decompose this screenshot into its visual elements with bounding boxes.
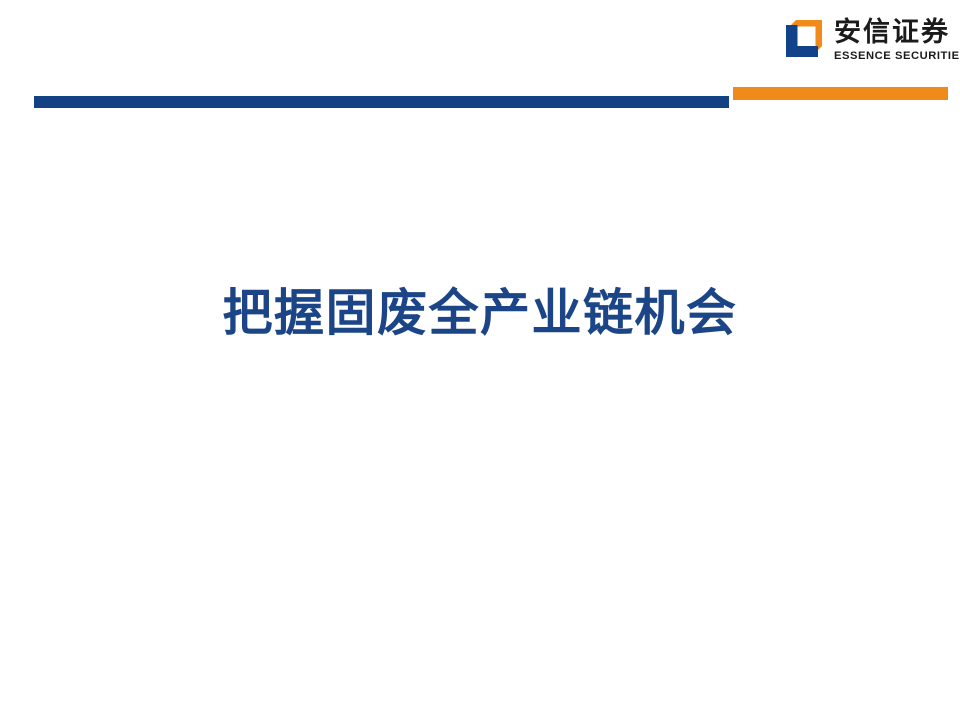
brand-text: 安信证券 ESSENCE SECURITIES — [834, 12, 960, 63]
presentation-slide: 安信证券 ESSENCE SECURITIES 把握固废全产业链机会 — [0, 0, 960, 720]
title-area: 把握固废全产业链机会 — [0, 278, 960, 348]
company-name-en: ESSENCE SECURITIES — [834, 50, 960, 63]
brand-row: 安信证券 ESSENCE SECURITIES — [778, 12, 960, 60]
slide-title: 把握固废全产业链机会 — [223, 281, 738, 345]
blue-rule — [34, 96, 729, 108]
orange-rule — [733, 87, 948, 100]
essence-securities-logo-icon — [778, 13, 826, 61]
brand-block: 安信证券 ESSENCE SECURITIES — [778, 12, 954, 78]
company-name-cn: 安信证券 — [834, 18, 960, 48]
